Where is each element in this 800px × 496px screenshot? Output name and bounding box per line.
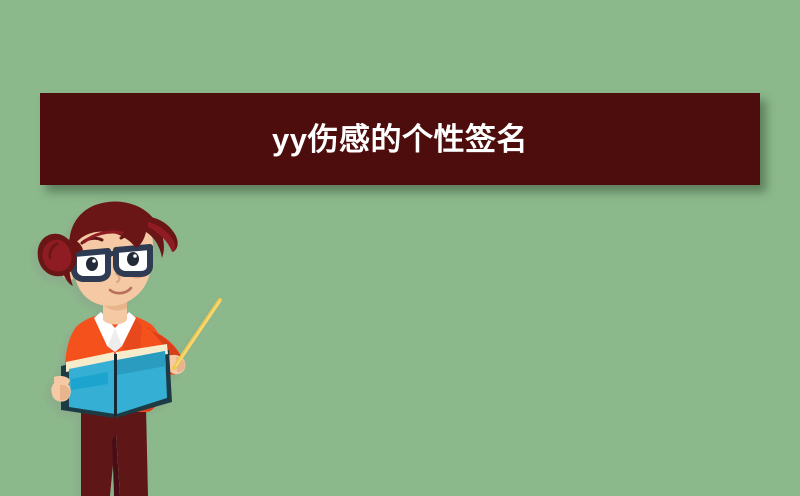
pointer-stick xyxy=(174,300,220,368)
title-banner: yy伤感的个性签名 xyxy=(40,93,760,185)
eye-right xyxy=(127,252,139,266)
glasses-icon xyxy=(68,247,150,279)
page-root: yy伤感的个性签名 xyxy=(0,0,800,496)
eye-left xyxy=(86,257,98,271)
trousers xyxy=(81,406,148,496)
teacher-illustration xyxy=(24,196,234,496)
figure-group xyxy=(38,202,220,496)
holding-hand xyxy=(51,376,70,402)
page-title: yy伤感的个性签名 xyxy=(272,124,528,155)
